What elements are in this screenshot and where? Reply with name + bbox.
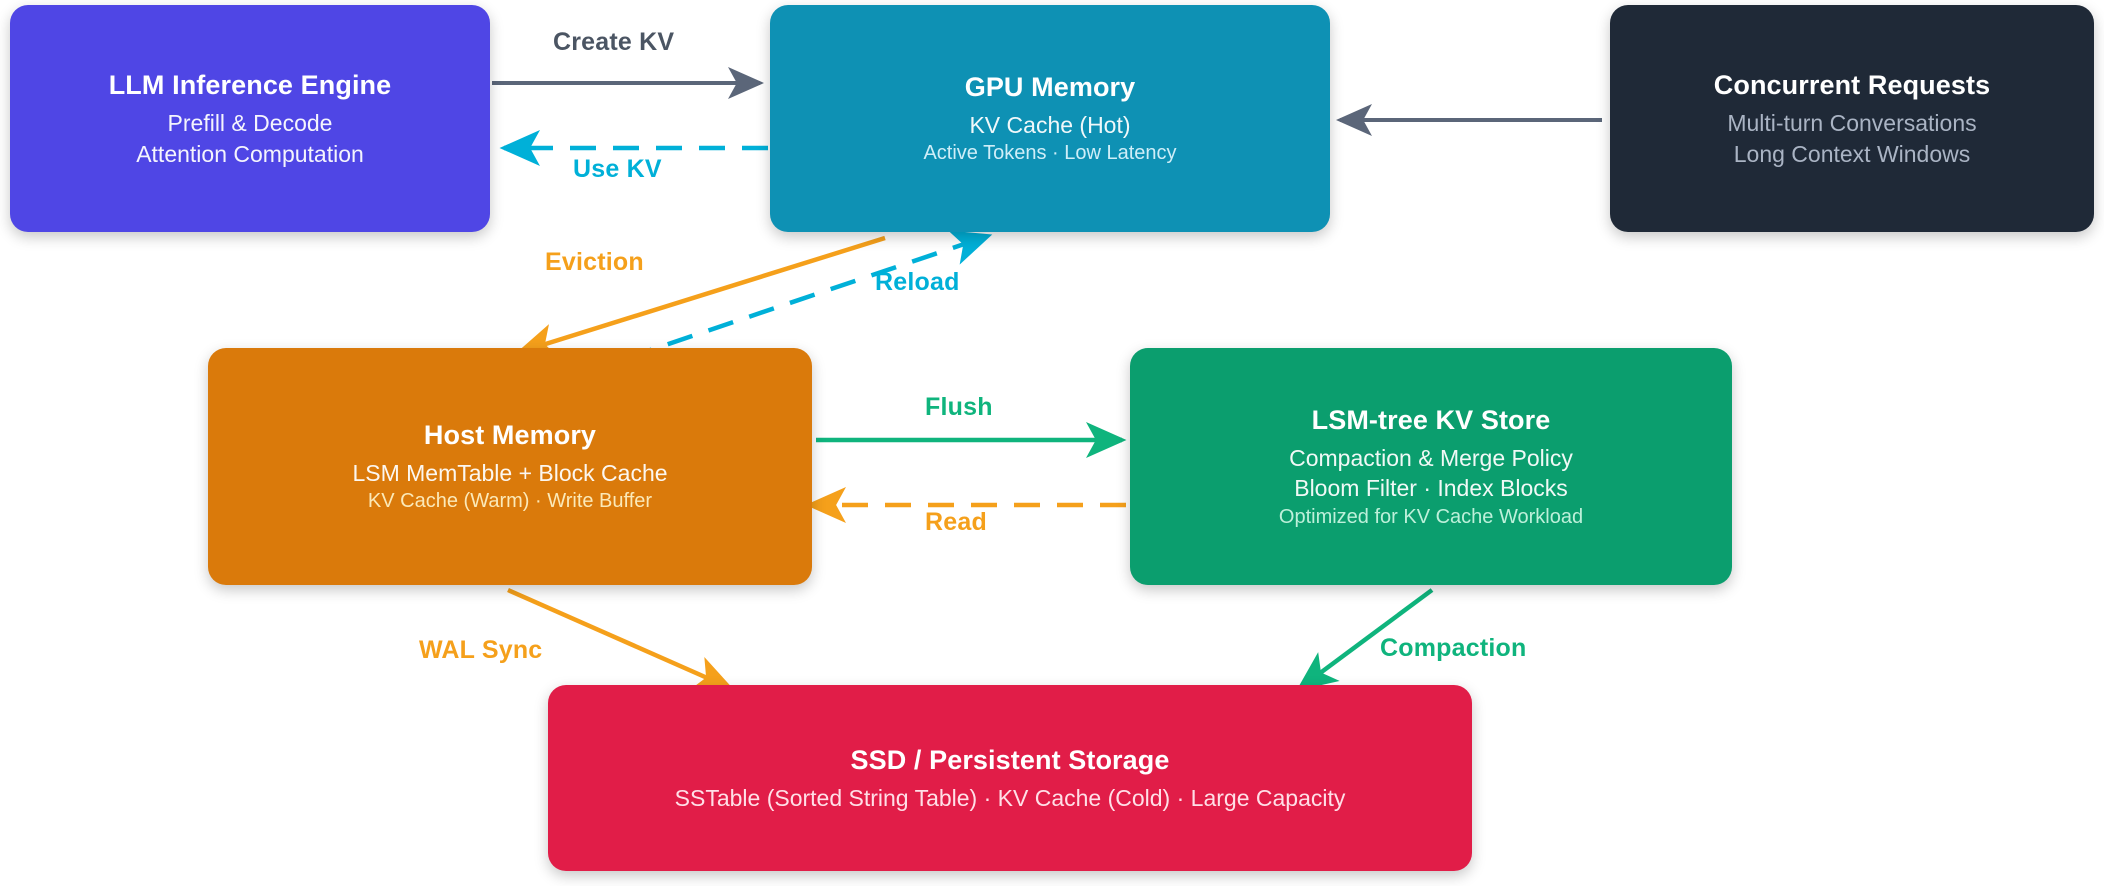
node-subtitle: Prefill & Decode [168, 108, 333, 138]
node-subtitle: Multi-turn Conversations [1727, 108, 1976, 138]
edge-label-read: Read [925, 508, 987, 537]
node-subtitle-2: Long Context Windows [1734, 139, 1971, 169]
edge-label-flush: Flush [925, 393, 993, 422]
node-llm-inference-engine[interactable]: LLM Inference Engine Prefill & Decode At… [10, 5, 490, 232]
node-subtitle: LSM MemTable + Block Cache [352, 458, 667, 488]
edge-label-wal-sync: WAL Sync [419, 636, 542, 665]
edge-label-eviction: Eviction [545, 248, 644, 277]
node-title: Concurrent Requests [1714, 68, 1990, 103]
edge-label-use-kv: Use KV [573, 155, 662, 184]
node-subtitle: Compaction & Merge Policy [1289, 443, 1573, 473]
node-subtitle-2: Optimized for KV Cache Workload [1279, 504, 1583, 531]
node-subtitle: SSTable (Sorted String Table) · KV Cache… [675, 783, 1346, 813]
node-host-memory[interactable]: Host Memory LSM MemTable + Block Cache K… [208, 348, 812, 585]
node-lsm-tree-kv-store[interactable]: LSM-tree KV Store Compaction & Merge Pol… [1130, 348, 1732, 585]
edge-label-reload: Reload [875, 268, 960, 297]
edge-reload [627, 236, 988, 358]
node-title: Host Memory [424, 418, 596, 453]
diagram-canvas: LLM Inference Engine Prefill & Decode At… [0, 0, 2104, 886]
node-concurrent-requests[interactable]: Concurrent Requests Multi-turn Conversat… [1610, 5, 2094, 232]
node-subtitle-2: Active Tokens · Low Latency [923, 140, 1176, 167]
node-gpu-memory[interactable]: GPU Memory KV Cache (Hot) Active Tokens … [770, 5, 1330, 232]
edge-label-create-kv: Create KV [553, 28, 674, 57]
node-subtitle: KV Cache (Hot) [969, 110, 1130, 140]
node-title: LSM-tree KV Store [1312, 403, 1551, 438]
node-subtitle-2: KV Cache (Warm) · Write Buffer [368, 488, 652, 515]
node-title: SSD / Persistent Storage [850, 743, 1169, 778]
node-ssd-persistent-storage[interactable]: SSD / Persistent Storage SSTable (Sorted… [548, 685, 1472, 871]
node-title: GPU Memory [965, 70, 1136, 105]
edge-label-compaction: Compaction [1380, 634, 1526, 663]
node-subtitle-3: Bloom Filter · Index Blocks [1294, 473, 1568, 503]
node-subtitle-2: Attention Computation [136, 139, 364, 169]
node-title: LLM Inference Engine [109, 68, 392, 103]
